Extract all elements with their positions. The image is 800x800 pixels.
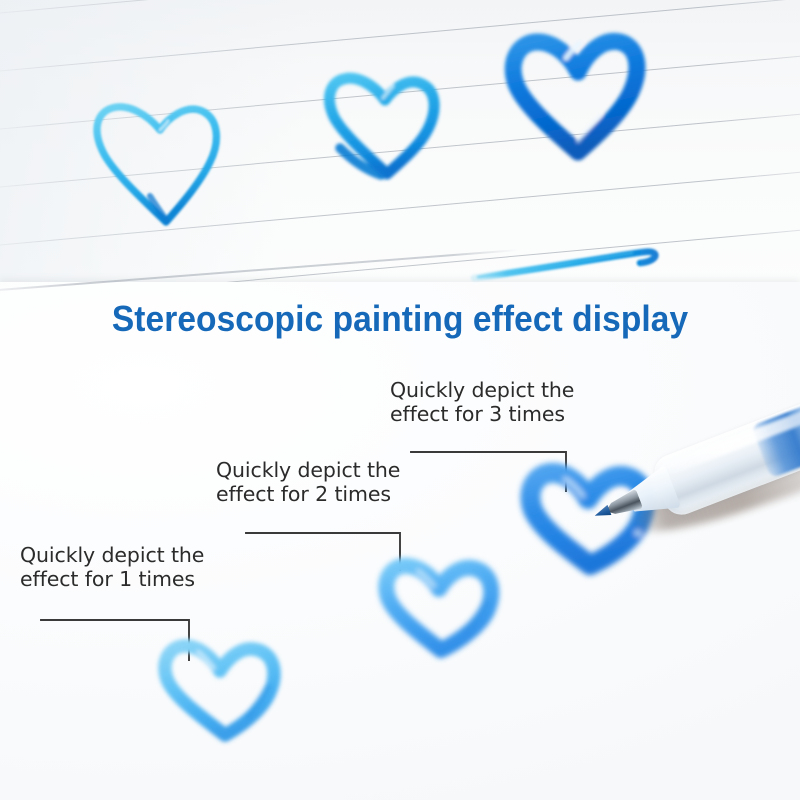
bottom-heart-1-time — [165, 646, 274, 735]
callout-label-1-times: Quickly depict the effect for 1 times — [20, 543, 204, 591]
product-image-canvas: Stereoscopic painting effect display — [0, 0, 800, 800]
ballpoint-pen — [612, 418, 800, 618]
callout-label-3-times: Quickly depict the effect for 3 times — [390, 378, 574, 426]
callout-label-2-times: Quickly depict the effect for 2 times — [216, 458, 400, 506]
bottom-heart-2-times — [386, 566, 491, 650]
leader-line-2 — [246, 533, 400, 570]
